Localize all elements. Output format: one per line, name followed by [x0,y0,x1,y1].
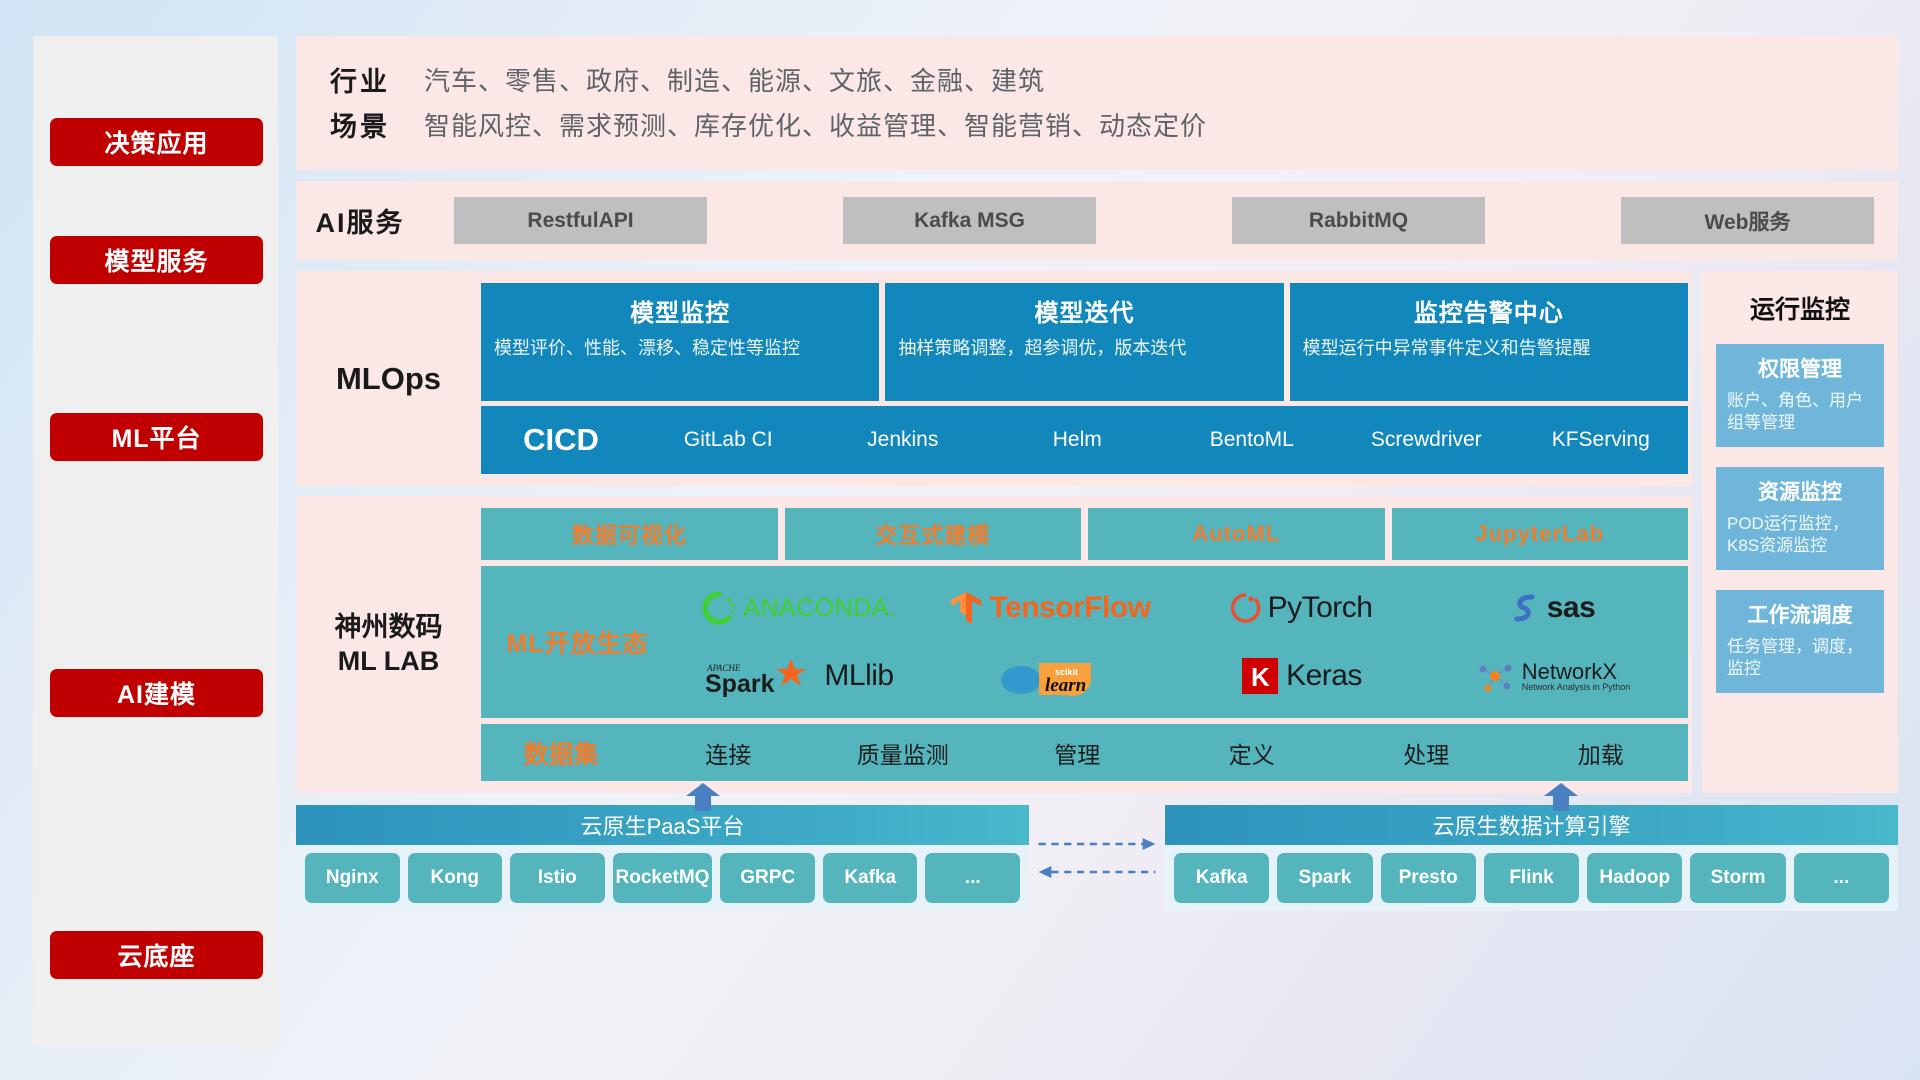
ai-service-band: AI服务 RestfulAPI Kafka MSG RabbitMQ Web服务 [296,181,1898,260]
networkx-logo-text: NetworkX [1522,660,1631,683]
dataset-item-management[interactable]: 管理 [990,736,1165,770]
scenario-label: 场景 [296,105,424,144]
tab-jupyterlab[interactable]: JupyterLab [1392,508,1689,560]
keras-logo-text: Keras [1286,659,1362,693]
cloud-connector [1029,805,1165,911]
paas-chip-grpc[interactable]: GRPC [720,853,815,903]
ml-ecosystem-panel: ML开放生态 ANACONDA. [481,566,1688,718]
cicd-item-helm[interactable]: Helm [990,428,1165,452]
cicd-item-screwdriver[interactable]: Screwdriver [1339,428,1514,452]
ai-service-chip-web-service[interactable]: Web服务 [1621,197,1874,244]
ai-service-chip-list: RestfulAPI Kafka MSG RabbitMQ Web服务 [424,197,1874,244]
engine-chip-presto[interactable]: Presto [1381,853,1476,903]
engine-chip-storm[interactable]: Storm [1690,853,1785,903]
ml-lab-label-line1: 神州数码 [296,611,481,645]
paas-chip-rocketmq[interactable]: RocketMQ [613,853,713,903]
industry-value: 汽车、零售、政府、制造、能源、文旅、金融、建筑 [424,61,1045,98]
ai-service-chip-kafka-msg[interactable]: Kafka MSG [843,197,1096,244]
keras-logo: K Keras [1176,642,1427,710]
ai-service-chip-restfulapi[interactable]: RestfulAPI [454,197,707,244]
engine-chip-flink[interactable]: Flink [1484,853,1579,903]
anaconda-icon [702,591,736,625]
platform-left-stack: MLOps 模型监控 模型评价、性能、漂移、稳定性等监控 模型迭代 抽样策略调整… [296,271,1692,793]
cicd-item-kfserving[interactable]: KFServing [1514,428,1689,452]
spark-mllib-logo: APACHE Spark MLlib [674,642,925,710]
ml-lab-band: 神州数码 ML LAB 数据可视化 交互式建模 AutoML JupyterLa… [296,496,1692,793]
paas-chip-nginx[interactable]: Nginx [305,853,400,903]
dataset-item-connect[interactable]: 连接 [641,736,816,770]
sas-logo: sas [1427,574,1678,642]
mlops-card-desc: 抽样策略调整，超参调优，版本迭代 [898,336,1270,360]
cloud-foundation-section: 云原生PaaS平台 Nginx Kong Istio RocketMQ GRPC… [296,805,1898,911]
paas-chip-istio[interactable]: Istio [510,853,605,903]
ml-lab-label: 神州数码 ML LAB [296,611,481,679]
paas-chip-kong[interactable]: Kong [408,853,503,903]
mlops-card-desc: 模型评价、性能、漂移、稳定性等监控 [494,336,866,360]
platform-section: MLOps 模型监控 模型评价、性能、漂移、稳定性等监控 模型迭代 抽样策略调整… [296,271,1898,793]
mlops-card-title: 模型监控 [494,293,866,328]
engine-up-arrow-icon [1544,783,1578,811]
rail-chip-decision-app[interactable]: 决策应用 [50,118,263,166]
mlops-card-list: 模型监控 模型评价、性能、漂移、稳定性等监控 模型迭代 抽样策略调整，超参调优，… [481,283,1688,401]
mlops-card-model-iteration[interactable]: 模型迭代 抽样策略调整，超参调优，版本迭代 [885,283,1283,401]
mllib-logo-text: MLlib [824,659,893,693]
scenario-row: 场景 智能风控、需求预测、库存优化、收益管理、智能营销、动态定价 [296,105,1898,144]
ml-lab-body: 数据可视化 交互式建模 AutoML JupyterLab ML开放生态 [481,508,1692,781]
keras-icon: K [1241,657,1279,695]
dataset-label: 数据集 [481,735,641,771]
cicd-item-gitlab-ci[interactable]: GitLab CI [641,428,816,452]
svg-text:learn: learn [1045,675,1086,696]
tab-automl[interactable]: AutoML [1088,508,1385,560]
svg-text:Spark: Spark [705,670,775,697]
cicd-bar: CICD GitLab CI Jenkins Helm BentoML Scre… [481,406,1688,474]
engine-chip-kafka[interactable]: Kafka [1174,853,1269,903]
monitor-card-title: 权限管理 [1727,353,1873,383]
mlops-card-title: 模型迭代 [898,293,1270,328]
anaconda-logo: ANACONDA. [674,574,925,642]
industry-row: 行业 汽车、零售、政府、制造、能源、文旅、金融、建筑 [296,60,1898,99]
pytorch-logo-text: PyTorch [1268,591,1373,625]
cicd-label: CICD [481,422,641,458]
ml-ecosystem-label: ML开放生态 [481,624,674,660]
dataset-item-definition[interactable]: 定义 [1165,736,1340,770]
paas-chip-list: Nginx Kong Istio RocketMQ GRPC Kafka ... [296,845,1029,911]
spark-icon: APACHE Spark [705,655,817,697]
monitor-card-resource[interactable]: 资源监控 POD运行监控，K8S资源监控 [1716,467,1884,570]
data-engine-block: 云原生数据计算引擎 Kafka Spark Presto Flink Hadoo… [1165,805,1898,911]
ai-service-chip-rabbitmq[interactable]: RabbitMQ [1232,197,1485,244]
anaconda-logo-text: ANACONDA. [743,594,896,623]
sas-icon [1510,592,1540,624]
mlops-body: 模型监控 模型评价、性能、漂移、稳定性等监控 模型迭代 抽样策略调整，超参调优，… [481,283,1692,474]
monitor-card-permission[interactable]: 权限管理 账户、角色、用户组等管理 [1716,344,1884,447]
paas-chip-kafka[interactable]: Kafka [823,853,918,903]
tensorflow-icon [950,590,982,626]
ml-lab-label-line2: ML LAB [296,645,481,679]
ai-service-label: AI服务 [296,201,424,240]
scenario-value: 智能风控、需求预测、库存优化、收益管理、智能营销、动态定价 [424,106,1207,143]
monitor-card-desc: POD运行监控，K8S资源监控 [1727,513,1873,558]
engine-chip-list: Kafka Spark Presto Flink Hadoop Storm ..… [1165,845,1898,911]
monitor-card-title: 资源监控 [1727,476,1873,506]
connector-arrow-left [1037,865,1157,879]
mlops-label: MLOps [296,361,481,397]
cicd-item-list: GitLab CI Jenkins Helm BentoML Screwdriv… [641,428,1688,452]
paas-platform-block: 云原生PaaS平台 Nginx Kong Istio RocketMQ GRPC… [296,805,1029,911]
tensorflow-logo-text: TensorFlow [989,591,1150,625]
pytorch-logo: PyTorch [1176,574,1427,642]
dataset-bar: 数据集 连接 质量监测 管理 定义 处理 加载 [481,724,1688,781]
paas-up-arrow-icon [686,783,720,811]
dataset-item-loading[interactable]: 加载 [1514,736,1689,770]
decision-apps-band: 行业 汽车、零售、政府、制造、能源、文旅、金融、建筑 场景 智能风控、需求预测、… [296,36,1898,170]
industry-label: 行业 [296,60,424,99]
pytorch-icon [1231,591,1261,625]
main-column: 行业 汽车、零售、政府、制造、能源、文旅、金融、建筑 场景 智能风控、需求预测、… [296,36,1898,1046]
networkx-icon [1475,657,1515,695]
networkx-logo: NetworkX Network Analysis in Python [1427,642,1678,710]
tensorflow-logo: TensorFlow [925,574,1176,642]
mlops-card-alert-center[interactable]: 监控告警中心 模型运行中异常事件定义和告警提醒 [1290,283,1688,401]
monitor-card-desc: 任务管理，调度，监控 [1727,636,1873,681]
rail-chip-ai-modeling[interactable]: AI建模 [50,669,263,717]
engine-chip-hadoop[interactable]: Hadoop [1587,853,1682,903]
runtime-monitor-title: 运行监控 [1716,290,1884,326]
scikit-learn-logo: scikit learn [925,642,1176,710]
svg-text:K: K [1251,662,1270,692]
rail-chip-ml-platform[interactable]: ML平台 [50,413,263,461]
ml-ecosystem-logo-grid: ANACONDA. TensorFlow [674,574,1678,710]
tab-interactive-modeling[interactable]: 交互式建模 [785,508,1082,560]
dataset-item-processing[interactable]: 处理 [1339,736,1514,770]
connector-arrow-right [1037,837,1157,851]
diagram-canvas: 决策应用 模型服务 ML平台 AI建模 云底座 行业 汽车、零售、政府、制造、能… [0,0,1920,1080]
cicd-item-jenkins[interactable]: Jenkins [816,428,991,452]
mlops-card-model-monitoring[interactable]: 模型监控 模型评价、性能、漂移、稳定性等监控 [481,283,879,401]
scikit-learn-icon: scikit learn [999,653,1103,699]
engine-chip-more[interactable]: ... [1794,853,1889,903]
mlops-band: MLOps 模型监控 模型评价、性能、漂移、稳定性等监控 模型迭代 抽样策略调整… [296,271,1692,486]
runtime-monitor-column: 运行监控 权限管理 账户、角色、用户组等管理 资源监控 POD运行监控，K8S资… [1702,271,1898,793]
dataset-item-quality-monitoring[interactable]: 质量监测 [816,736,991,770]
paas-platform-title: 云原生PaaS平台 [296,805,1029,845]
rail-chip-cloud-base[interactable]: 云底座 [50,931,263,979]
sas-logo-text: sas [1547,591,1596,625]
paas-chip-more[interactable]: ... [925,853,1020,903]
rail-chip-model-service[interactable]: 模型服务 [50,236,263,284]
tab-data-visualization[interactable]: 数据可视化 [481,508,778,560]
mlops-card-desc: 模型运行中异常事件定义和告警提醒 [1303,336,1675,360]
layer-rail: 决策应用 模型服务 ML平台 AI建模 云底座 [33,36,278,1046]
monitor-card-desc: 账户、角色、用户组等管理 [1727,390,1873,435]
data-engine-title: 云原生数据计算引擎 [1165,805,1898,845]
engine-chip-spark[interactable]: Spark [1277,853,1372,903]
monitor-card-title: 工作流调度 [1727,599,1873,629]
cicd-item-bentoml[interactable]: BentoML [1165,428,1340,452]
monitor-card-workflow[interactable]: 工作流调度 任务管理，调度，监控 [1716,590,1884,693]
ml-lab-tab-list: 数据可视化 交互式建模 AutoML JupyterLab [481,508,1688,560]
dataset-item-list: 连接 质量监测 管理 定义 处理 加载 [641,736,1688,770]
mlops-card-title: 监控告警中心 [1303,293,1675,328]
